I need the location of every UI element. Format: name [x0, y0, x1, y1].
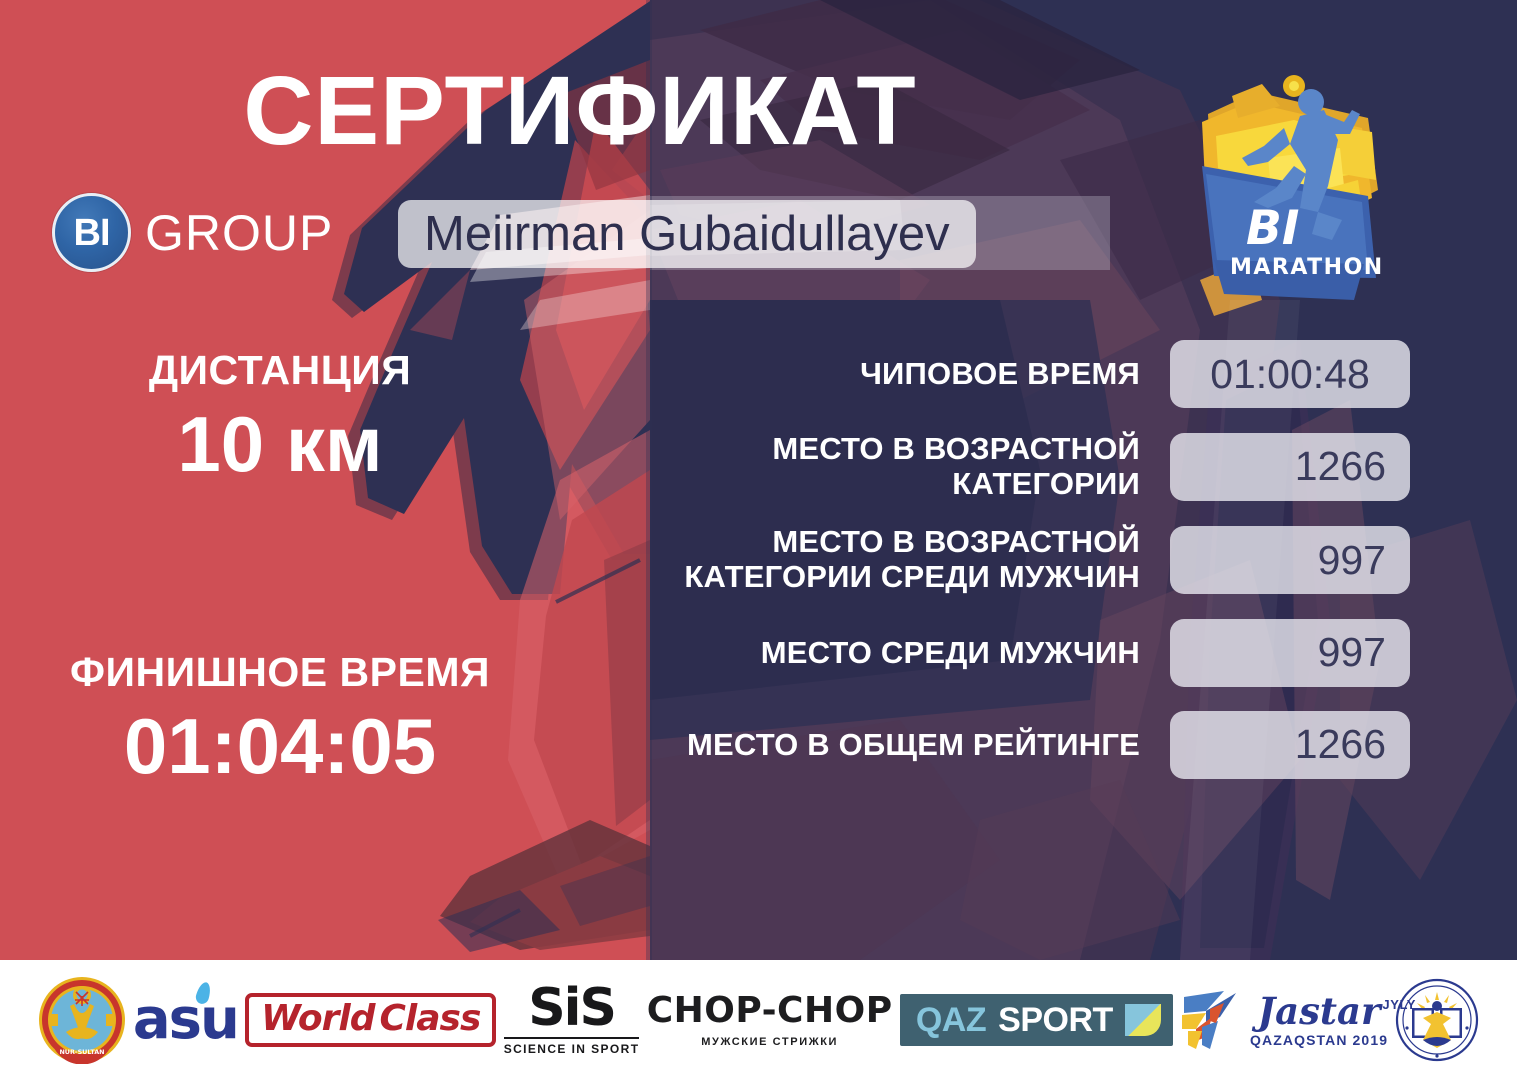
- marathon-word-marathon: MARATHON: [1230, 255, 1384, 280]
- distance-block: ДИСТАНЦИЯ 10 км: [0, 348, 560, 488]
- stat-value: 997: [1170, 619, 1410, 687]
- sis-tagline: SCIENCE IN SPORT: [504, 1037, 640, 1056]
- nur-sultan-caption: NUR-SULTAN: [59, 1048, 104, 1056]
- stat-row: МЕСТО В ОБЩЕМ РЕЙТИНГЕ 1266: [620, 711, 1410, 779]
- world-class-word2: Class: [380, 1001, 481, 1037]
- finish-time-value: 01:04:05: [0, 704, 560, 790]
- distance-value: 10 км: [0, 402, 560, 488]
- sis-wordmark: SiS: [504, 984, 640, 1033]
- jastar-wordmark: Jastar: [1250, 993, 1388, 1030]
- bi-marathon-logo: BI MARATHON: [1172, 62, 1410, 310]
- finish-time-block: ФИНИШНОЕ ВРЕМЯ 01:04:05: [0, 650, 560, 790]
- stat-label: МЕСТО В ВОЗРАСТНОЙ КАТЕГОРИИ: [620, 432, 1140, 501]
- chop-chop-tagline: МУЖСКИЕ СТРИЖКИ: [647, 1036, 893, 1048]
- stat-value: 1266: [1170, 433, 1410, 501]
- finish-time-label: ФИНИШНОЕ ВРЕМЯ: [0, 650, 560, 696]
- sponsor-ministry: ҚАЗАҚСТАН РЕСПУБЛИКАСЫНЫҢ МӘДЕНИЕТ ЖӘНЕ …: [1395, 978, 1479, 1062]
- stat-label: ЧИПОВОЕ ВРЕМЯ: [620, 357, 1140, 392]
- jastar-tagline: QAZAQSTAN 2019: [1250, 1032, 1388, 1048]
- jastar-mark-icon: [1180, 987, 1242, 1053]
- svg-text:ҚАЗАҚСТАН РЕСПУБЛИКАСЫНЫҢ МӘДЕ: ҚАЗАҚСТАН РЕСПУБЛИКАСЫНЫҢ МӘДЕНИЕТ ЖӘНЕ …: [1395, 978, 1398, 980]
- stat-value: 997: [1170, 526, 1410, 594]
- stat-row: ЧИПОВОЕ ВРЕМЯ 01:00:48: [620, 340, 1410, 408]
- sponsor-sis: SiS SCIENCE IN SPORT: [504, 984, 640, 1055]
- jastar-jyly-label: JYLY: [1382, 997, 1416, 1012]
- qazsport-word1: QAZ: [916, 1003, 986, 1037]
- stat-label: МЕСТО В ВОЗРАСТНОЙ КАТЕГОРИИ СРЕДИ МУЖЧИ…: [620, 525, 1140, 594]
- distance-label: ДИСТАНЦИЯ: [0, 348, 560, 394]
- chop-chop-wordmark: CHOP-CHOP: [647, 993, 893, 1029]
- marathon-word-bi: BI: [1246, 201, 1299, 256]
- certificate-canvas: СЕРТИФИКАТ BI GROUP Meiirman Gubaidullay…: [0, 0, 1517, 1080]
- certificate-content: СЕРТИФИКАТ BI GROUP Meiirman Gubaidullay…: [0, 0, 1517, 960]
- stat-row: МЕСТО В ВОЗРАСТНОЙ КАТЕГОРИИ 1266: [620, 432, 1410, 501]
- sponsor-chop-chop: CHOP-CHOP МУЖСКИЕ СТРИЖКИ: [647, 993, 893, 1048]
- stat-value: 1266: [1170, 711, 1410, 779]
- sponsor-asu: asu: [133, 992, 238, 1048]
- asu-wordmark: asu: [133, 992, 238, 1048]
- stat-row: МЕСТО В ВОЗРАСТНОЙ КАТЕГОРИИ СРЕДИ МУЖЧИ…: [620, 525, 1410, 594]
- qazsport-mark-icon: [1125, 1004, 1161, 1036]
- sponsor-qazsport: QAZ SPORT: [900, 994, 1173, 1046]
- sponsor-jastar: Jastar JYLY QAZAQSTAN 2019: [1180, 987, 1388, 1053]
- stat-row: МЕСТО СРЕДИ МУЖЧИН 997: [620, 619, 1410, 687]
- sponsor-nur-sultan: NUR-SULTAN: [38, 976, 126, 1064]
- stat-label: МЕСТО В ОБЩЕМ РЕЙТИНГЕ: [620, 728, 1140, 763]
- sponsor-footer: NUR-SULTAN asu World Class SiS SCIENCE I…: [0, 960, 1517, 1080]
- stat-label: МЕСТО СРЕДИ МУЖЧИН: [620, 636, 1140, 671]
- right-stats-column: ЧИПОВОЕ ВРЕМЯ 01:00:48 МЕСТО В ВОЗРАСТНО…: [620, 340, 1410, 803]
- qazsport-word2: SPORT: [998, 1003, 1113, 1037]
- sponsor-world-class: World Class: [245, 993, 496, 1047]
- world-class-word1: World: [261, 1001, 374, 1037]
- left-stats-column: ДИСТАНЦИЯ 10 км ФИНИШНОЕ ВРЕМЯ 01:04:05: [0, 0, 560, 960]
- stat-value: 01:00:48: [1170, 340, 1410, 408]
